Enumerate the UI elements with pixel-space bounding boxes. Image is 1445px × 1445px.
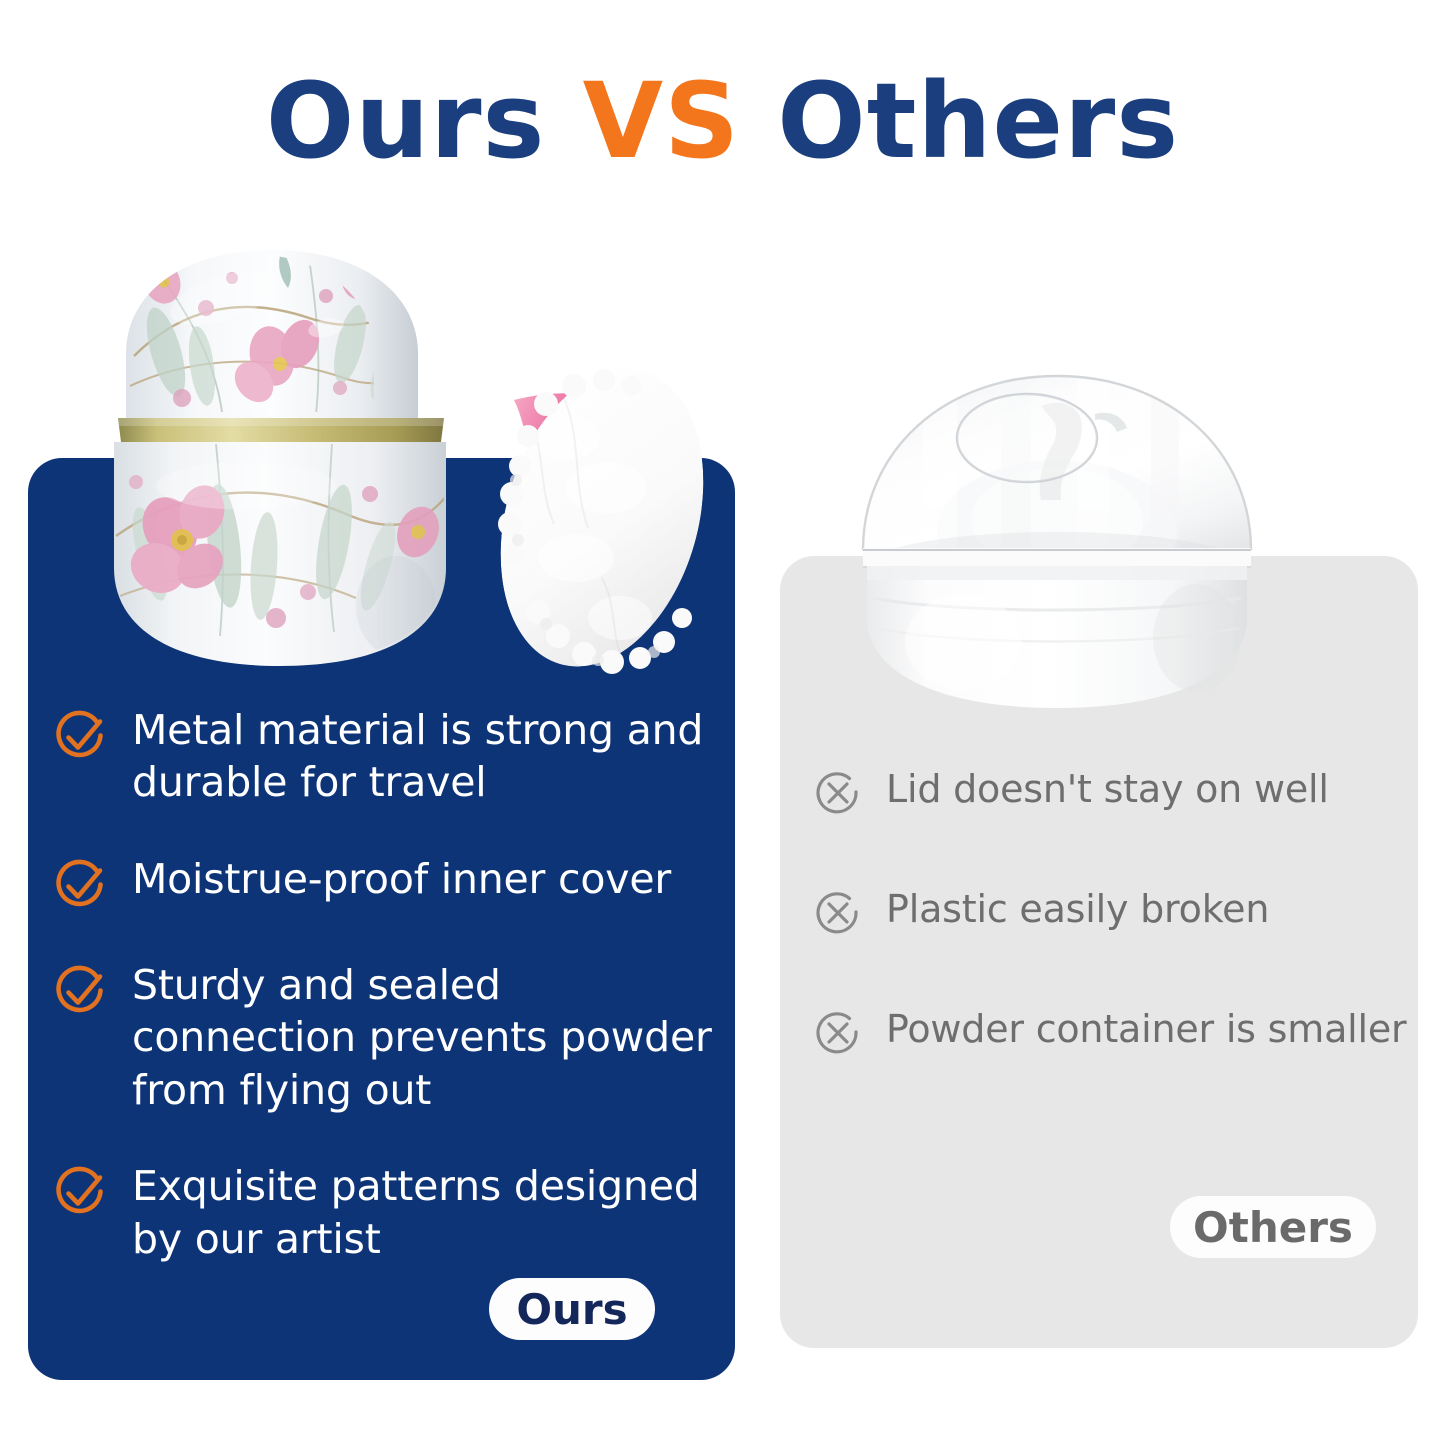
list-item-label: Exquisite patterns designed by our artis… xyxy=(132,1160,724,1265)
list-item: Lid doesn't stay on well xyxy=(812,766,1412,820)
ours-badge: Ours xyxy=(489,1278,655,1340)
title-ours-word: Ours xyxy=(266,60,546,182)
list-item: Powder container is smaller xyxy=(812,1006,1412,1060)
list-item-label: Sturdy and sealed connection prevents po… xyxy=(132,959,724,1116)
list-item: Moistrue-proof inner cover xyxy=(52,853,724,915)
title-vs-word: VS xyxy=(583,60,740,182)
check-circle-icon xyxy=(52,1164,110,1222)
list-item-label: Moistrue-proof inner cover xyxy=(132,853,671,905)
title-others-word: Others xyxy=(777,60,1179,182)
list-item: Exquisite patterns designed by our artis… xyxy=(52,1160,724,1265)
ours-feature-list: Metal material is strong and durable for… xyxy=(52,704,724,1265)
list-item-label: Lid doesn't stay on well xyxy=(886,766,1329,814)
list-item-label: Metal material is strong and durable for… xyxy=(132,704,724,809)
x-circle-icon xyxy=(812,1008,864,1060)
list-item: Sturdy and sealed connection prevents po… xyxy=(52,959,724,1116)
list-item-label: Powder container is smaller xyxy=(886,1006,1406,1054)
page-title: Ours VS Others xyxy=(0,62,1445,182)
x-circle-icon xyxy=(812,768,864,820)
list-item-label: Plastic easily broken xyxy=(886,886,1269,934)
others-drawback-list: Lid doesn't stay on well Plastic easily … xyxy=(812,766,1412,1060)
list-item: Metal material is strong and durable for… xyxy=(52,704,724,809)
others-badge: Others xyxy=(1170,1196,1376,1258)
list-item: Plastic easily broken xyxy=(812,886,1412,940)
check-circle-icon xyxy=(52,963,110,1021)
x-circle-icon xyxy=(812,888,864,940)
check-circle-icon xyxy=(52,708,110,766)
check-circle-icon xyxy=(52,857,110,915)
